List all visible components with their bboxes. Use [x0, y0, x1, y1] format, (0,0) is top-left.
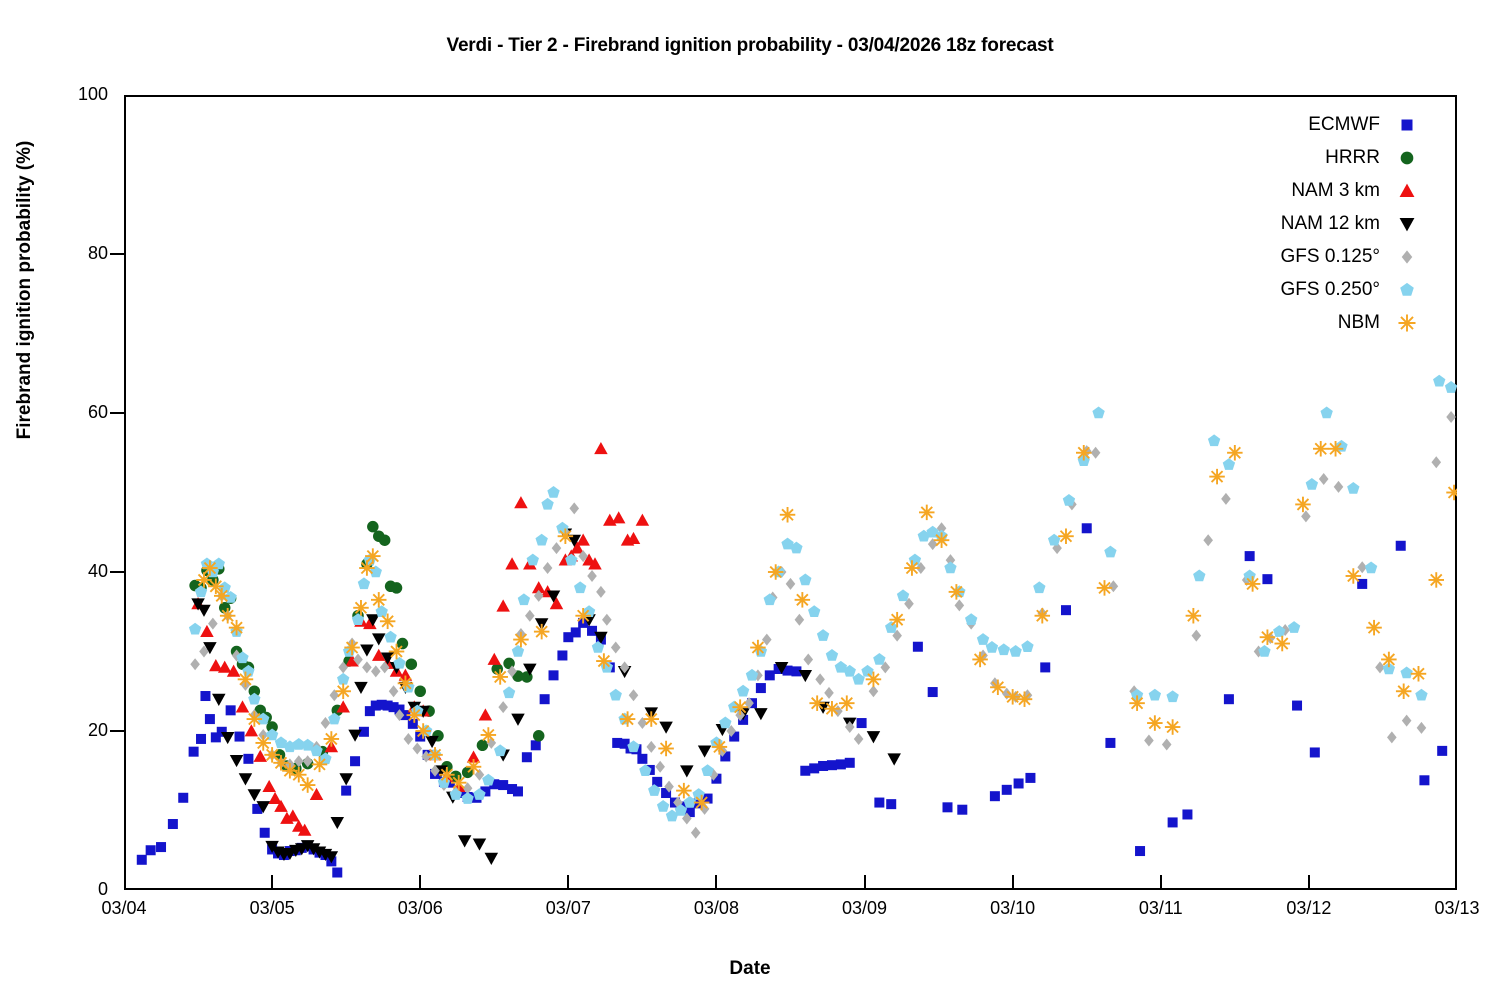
x-tick-label: 03/10: [963, 898, 1063, 919]
x-tick-label: 03/09: [815, 898, 915, 919]
y-tick-label: 0: [48, 879, 108, 900]
triangle-up-marker-icon: [1394, 178, 1420, 204]
y-tick-label: 40: [48, 561, 108, 582]
x-tick-mark: [1012, 875, 1014, 890]
y-tick-mark: [110, 730, 124, 732]
x-tick-mark: [864, 875, 866, 890]
legend-item-label: HRRR: [1325, 147, 1380, 169]
y-tick-label: 60: [48, 402, 108, 423]
asterisk-marker-icon: [1394, 310, 1420, 336]
legend-item-label: GFS 0.125°: [1281, 246, 1380, 268]
y-axis-label: Firebrand ignition probability (%): [14, 0, 54, 790]
x-tick-mark: [271, 875, 273, 890]
y-tick-mark: [110, 571, 124, 573]
legend-item-label: GFS 0.250°: [1281, 279, 1380, 301]
x-tick-label: 03/08: [666, 898, 766, 919]
x-tick-label: 03/06: [370, 898, 470, 919]
y-tick-label: 80: [48, 243, 108, 264]
x-tick-label: 03/12: [1259, 898, 1359, 919]
chart-root: Verdi - Tier 2 - Firebrand ignition prob…: [0, 0, 1500, 1000]
x-tick-label: 03/07: [518, 898, 618, 919]
chart-title: Verdi - Tier 2 - Firebrand ignition prob…: [0, 35, 1500, 57]
legend-item-nam-3-km[interactable]: NAM 3 km: [1205, 174, 1420, 207]
pentagon-marker-icon: [1394, 277, 1420, 303]
chart-legend: ECMWFHRRRNAM 3 kmNAM 12 kmGFS 0.125°GFS …: [1205, 108, 1420, 339]
legend-item-hrrr[interactable]: HRRR: [1205, 141, 1420, 174]
legend-item-label: NBM: [1338, 312, 1380, 334]
legend-item-gfs-0-250[interactable]: GFS 0.250°: [1205, 273, 1420, 306]
x-tick-label: 03/04: [74, 898, 174, 919]
x-tick-mark: [419, 875, 421, 890]
y-tick-label: 20: [48, 720, 108, 741]
legend-item-label: NAM 12 km: [1281, 213, 1380, 235]
y-tick-mark: [110, 412, 124, 414]
legend-item-nam-12-km[interactable]: NAM 12 km: [1205, 207, 1420, 240]
legend-item-gfs-0-125[interactable]: GFS 0.125°: [1205, 240, 1420, 273]
square-marker-icon: [1394, 112, 1420, 138]
x-axis-label: Date: [0, 958, 1500, 980]
x-tick-label: 03/13: [1407, 898, 1500, 919]
x-tick-mark: [1160, 875, 1162, 890]
triangle-down-marker-icon: [1394, 211, 1420, 237]
x-tick-mark: [1308, 875, 1310, 890]
x-tick-label: 03/11: [1111, 898, 1211, 919]
x-tick-mark: [567, 875, 569, 890]
x-tick-mark: [715, 875, 717, 890]
y-tick-mark: [110, 253, 124, 255]
diamond-marker-icon: [1394, 244, 1420, 270]
circle-marker-icon: [1394, 145, 1420, 171]
legend-item-label: ECMWF: [1308, 114, 1380, 136]
legend-item-ecmwf[interactable]: ECMWF: [1205, 108, 1420, 141]
legend-item-label: NAM 3 km: [1291, 180, 1380, 202]
x-tick-label: 03/05: [222, 898, 322, 919]
y-tick-label: 100: [48, 84, 108, 105]
legend-item-nbm[interactable]: NBM: [1205, 306, 1420, 339]
